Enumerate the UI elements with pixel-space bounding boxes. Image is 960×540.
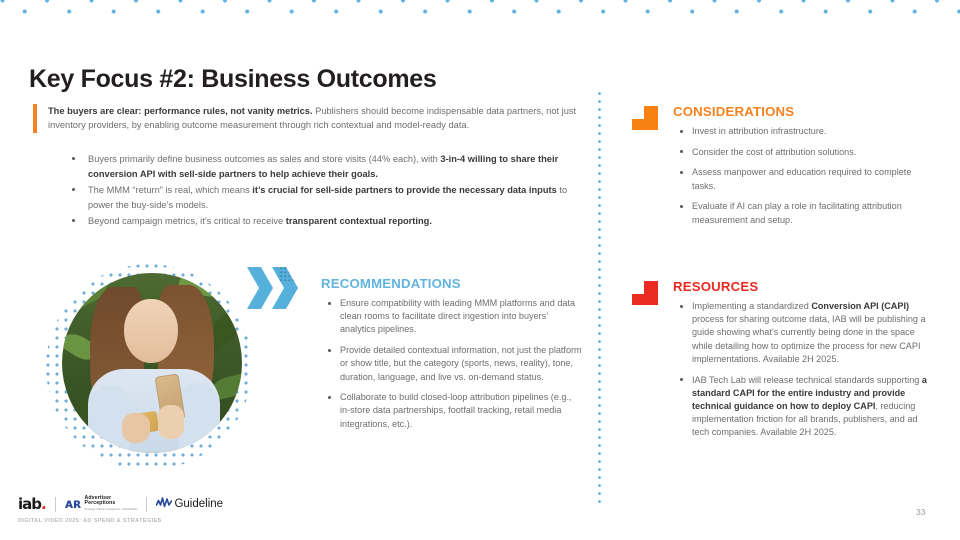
resources-section: RESOURCES Implementing a standardized Co…	[673, 279, 937, 447]
body-text: IAB Tech Lab will release technical stan…	[692, 375, 922, 385]
key-findings-list: Buyers primarily define business outcome…	[60, 152, 580, 231]
considerations-title: CONSIDERATIONS	[673, 104, 935, 119]
photo-block	[46, 264, 252, 470]
decorative-dot-pattern	[0, 0, 960, 42]
chevron-arrows-decoration	[247, 267, 311, 309]
body-text: Ensure compatibility with leading MMM pl…	[340, 298, 575, 334]
list-item: Provide detailed contextual information,…	[321, 344, 583, 384]
advertiser-perceptions-logo: ᴀʀ Advertiser Perceptions Strategic Mark…	[65, 496, 138, 513]
resources-title: RESOURCES	[673, 279, 937, 294]
body-text: Beyond campaign metrics, it’s critical t…	[88, 216, 286, 226]
list-item: IAB Tech Lab will release technical stan…	[673, 374, 937, 440]
page-number: 33	[916, 507, 925, 517]
iab-logo: iab.	[18, 495, 46, 513]
list-item: The MMM “return” is real, which means it…	[60, 183, 580, 212]
list-item: Buyers primarily define business outcome…	[60, 152, 580, 181]
ap-line-3: Strategic Market Intelligence | ADVANCED	[85, 507, 138, 513]
list-item: Assess manpower and education required t…	[673, 166, 935, 192]
body-text: process for sharing outcome data, IAB wi…	[692, 314, 926, 364]
woman-with-phone-photo	[62, 273, 242, 453]
intro-lead-bold: The buyers are clear: performance rules,…	[48, 106, 313, 116]
body-text: Consider the cost of attribution solutio…	[692, 147, 856, 157]
chevron-right-icon	[247, 267, 273, 309]
body-text: Assess manpower and education required t…	[692, 167, 911, 190]
body-text: Collaborate to build closed-loop attribu…	[340, 392, 572, 428]
recommendations-title: RECOMMENDATIONS	[321, 276, 583, 291]
emphasis-text: Conversion API (CAPI)	[811, 301, 909, 311]
resources-list: Implementing a standardized Conversion A…	[673, 300, 937, 440]
partner-logo-row: iab. ᴀʀ Advertiser Perceptions Strategic…	[18, 494, 223, 514]
list-item: Ensure compatibility with leading MMM pl…	[321, 297, 583, 337]
emphasis-text: transparent contextual reporting.	[286, 216, 432, 226]
footer: iab. ᴀʀ Advertiser Perceptions Strategic…	[18, 494, 223, 534]
body-text: Evaluate if AI can play a role in facili…	[692, 201, 902, 224]
page-title: Key Focus #2: Business Outcomes	[29, 65, 437, 94]
guideline-wordmark: Guideline	[174, 498, 223, 510]
intro-paragraph: The buyers are clear: performance rules,…	[33, 104, 593, 133]
emphasis-text: it’s crucial for sell-side partners to p…	[252, 185, 556, 195]
logo-separator-2	[146, 497, 147, 512]
list-item: Consider the cost of attribution solutio…	[673, 146, 935, 159]
recommendations-section: RECOMMENDATIONS Ensure compatibility wit…	[321, 276, 583, 438]
column-divider	[598, 92, 601, 504]
iab-logo-dot: .	[41, 495, 46, 513]
body-text: Implementing a standardized	[692, 301, 811, 311]
advertiser-perceptions-mark-icon: ᴀʀ	[65, 497, 82, 512]
considerations-list: Invest in attribution infrastructure.Con…	[673, 125, 935, 227]
list-item: Evaluate if AI can play a role in facili…	[673, 200, 935, 226]
body-text: The MMM “return” is real, which means	[88, 185, 252, 195]
deck-name: DIGITAL VIDEO 2025: AD SPEND & STRATEGIE…	[18, 518, 223, 524]
advertiser-perceptions-wordmark: Advertiser Perceptions Strategic Market …	[85, 496, 138, 513]
logo-separator	[55, 497, 56, 512]
body-text: Buyers primarily define business outcome…	[88, 154, 440, 164]
considerations-section: CONSIDERATIONS Invest in attribution inf…	[673, 104, 935, 234]
recommendations-list: Ensure compatibility with leading MMM pl…	[321, 297, 583, 431]
body-text: Invest in attribution infrastructure.	[692, 126, 826, 136]
list-item: Collaborate to build closed-loop attribu…	[321, 391, 583, 431]
iab-logo-text: iab	[18, 495, 41, 513]
list-item: Implementing a standardized Conversion A…	[673, 300, 937, 366]
list-item: Beyond campaign metrics, it’s critical t…	[60, 214, 580, 229]
resources-corner-marker-icon	[632, 281, 658, 305]
guideline-wave-icon	[156, 497, 172, 511]
list-item: Invest in attribution infrastructure.	[673, 125, 935, 138]
guideline-logo: Guideline	[156, 497, 223, 511]
considerations-corner-marker-icon	[632, 106, 658, 130]
chevron-right-halftone-icon	[272, 267, 298, 309]
body-text: Provide detailed contextual information,…	[340, 345, 582, 381]
